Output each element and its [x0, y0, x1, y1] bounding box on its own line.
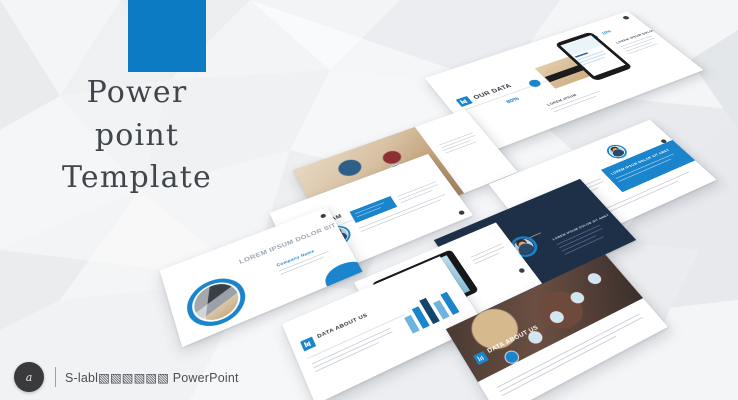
- slide-corner-logo: [622, 16, 630, 20]
- blue-circle-accent: [321, 256, 363, 296]
- footer-caption: a S-labl▧▧▧▧▧▧ PowerPoint: [14, 362, 239, 392]
- laptop-circle-frame: [181, 271, 252, 335]
- caption-divider: [55, 367, 56, 387]
- avatar: [607, 145, 627, 158]
- chart-bar-icon: [300, 337, 316, 352]
- slide-deck: OUR DATA 80% 10% LOREM IPSUM DOLOR SIT A…: [0, 0, 738, 400]
- slide-corner-logo: [458, 210, 466, 216]
- caption-suffix: PowerPoint: [173, 371, 239, 385]
- presentation-preview-canvas: Power point Template OUR DATA 80% 10%: [0, 0, 738, 400]
- slide-title: OUR DATA: [472, 83, 513, 101]
- slide-title: DATA ABOUT US: [316, 313, 369, 341]
- brand-logo-icon[interactable]: a: [14, 362, 44, 392]
- caption-text: S-labl▧▧▧▧▧▧ PowerPoint: [65, 370, 239, 385]
- laptop-photo: [190, 278, 244, 327]
- caption-prefix: S-labl: [65, 371, 98, 385]
- caption-cjk: ▧▧▧▧▧▧: [98, 370, 169, 385]
- stat-value-80: 80%: [505, 97, 520, 105]
- slide-corner-logo: [518, 268, 526, 274]
- stat-value-10: 10%: [601, 30, 613, 35]
- chart-bar-icon: [456, 96, 473, 107]
- slide-corner-logo: [320, 213, 327, 218]
